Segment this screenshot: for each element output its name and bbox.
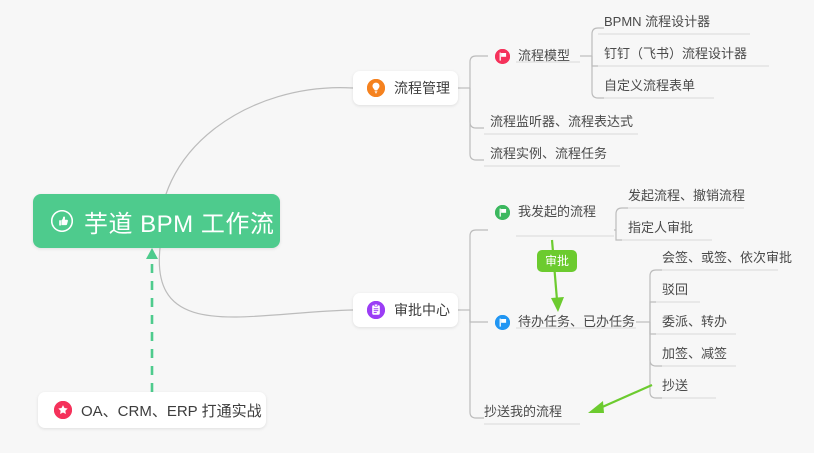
leaf-label: 抄送 (662, 376, 688, 396)
mindmap-canvas: 芋道 BPM 工作流 流程管理 审批中心 (0, 0, 814, 453)
leaf-label: 委派、转办 (662, 312, 727, 332)
branch-node-process-management[interactable]: 流程管理 (353, 71, 458, 105)
leaf-custom-form[interactable]: 自定义流程表单 (604, 76, 695, 96)
approval-badge: 审批 (537, 250, 577, 272)
leaf-delegate-transfer[interactable]: 委派、转办 (662, 312, 727, 332)
leaf-label: 待办任务、已办任务 (518, 312, 635, 332)
flag-icon (495, 315, 510, 330)
clipboard-icon (367, 301, 385, 319)
branch-node-approval-center[interactable]: 审批中心 (353, 293, 458, 327)
leaf-label: 驳回 (662, 280, 688, 300)
leaf-countersign[interactable]: 会签、或签、依次审批 (662, 248, 792, 268)
leaf-label: 我发起的流程 (518, 202, 596, 222)
flag-icon (495, 49, 510, 64)
branch-label: 审批中心 (394, 300, 450, 320)
leaf-bpmn-designer[interactable]: BPMN 流程设计器 (604, 12, 710, 32)
leaf-label: 发起流程、撤销流程 (628, 186, 745, 206)
leaf-add-remove-sign[interactable]: 加签、减签 (662, 344, 727, 364)
leaf-process-instance[interactable]: 流程实例、流程任务 (490, 144, 607, 164)
leaf-label: 会签、或签、依次审批 (662, 248, 792, 268)
leaf-label: 流程实例、流程任务 (490, 144, 607, 164)
leaf-process-listener[interactable]: 流程监听器、流程表达式 (490, 112, 633, 132)
arrow-cc-flow (588, 385, 652, 413)
branch-label: 流程管理 (394, 78, 450, 98)
root-label: 芋道 BPM 工作流 (84, 204, 274, 239)
dashed-link-integration (146, 248, 158, 392)
leaf-dingtalk-designer[interactable]: 钉钉（飞书）流程设计器 (604, 44, 747, 64)
leaf-label: 流程模型 (518, 46, 570, 66)
star-icon (54, 401, 72, 419)
leaf-todo-done-tasks[interactable]: 待办任务、已办任务 (495, 312, 635, 332)
thumbs-up-icon (51, 210, 73, 232)
integration-label: OA、CRM、ERP 打通实战 (81, 400, 262, 421)
lightbulb-icon (367, 79, 385, 97)
leaf-label: 指定人审批 (628, 218, 693, 238)
leaf-label: BPMN 流程设计器 (604, 12, 710, 32)
integration-node[interactable]: OA、CRM、ERP 打通实战 (38, 392, 266, 428)
leaf-start-cancel-process[interactable]: 发起流程、撤销流程 (628, 186, 745, 206)
leaf-label: 流程监听器、流程表达式 (490, 112, 633, 132)
leaf-assignee-approval[interactable]: 指定人审批 (628, 218, 693, 238)
leaf-label: 自定义流程表单 (604, 76, 695, 96)
leaf-reject[interactable]: 驳回 (662, 280, 688, 300)
leaf-cc-to-me[interactable]: 抄送我的流程 (484, 402, 562, 422)
leaf-label: 钉钉（飞书）流程设计器 (604, 44, 747, 64)
flag-icon (495, 205, 510, 220)
leaf-label: 抄送我的流程 (484, 402, 562, 422)
leaf-cc[interactable]: 抄送 (662, 376, 688, 396)
leaf-process-model[interactable]: 流程模型 (495, 46, 570, 66)
leaf-label: 加签、减签 (662, 344, 727, 364)
root-node[interactable]: 芋道 BPM 工作流 (33, 194, 280, 248)
leaf-my-initiated[interactable]: 我发起的流程 (495, 202, 596, 222)
